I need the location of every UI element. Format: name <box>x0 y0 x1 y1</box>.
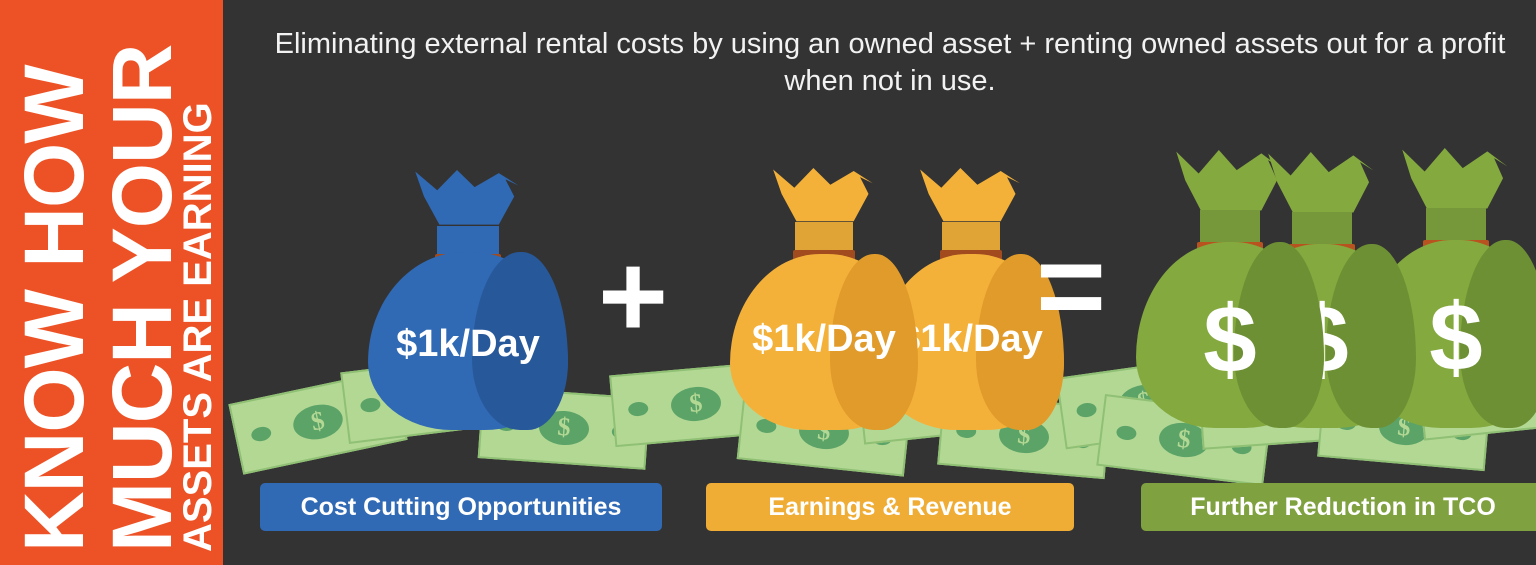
bag-dollar-symbol: $ <box>1136 292 1324 388</box>
label-text: Further Reduction in TCO <box>1190 493 1496 522</box>
label-further-reduction-tco[interactable]: Further Reduction in TCO <box>1141 483 1536 531</box>
label-text: Earnings & Revenue <box>768 493 1011 522</box>
label-earnings-revenue[interactable]: Earnings & Revenue <box>706 483 1074 531</box>
bag-amount-label: $1k/Day <box>730 318 918 361</box>
sidebar-headline-panel: KNOW HOW MUCH YOUR ASSETS ARE EARNING <box>0 0 223 565</box>
sidebar-headline-line-1: KNOW HOW <box>12 65 96 552</box>
label-text: Cost Cutting Opportunities <box>301 493 622 522</box>
label-cost-cutting-opportunities[interactable]: Cost Cutting Opportunities <box>260 483 662 531</box>
bag-amount-label: $1k/Day <box>368 323 568 366</box>
bag-neck <box>1200 210 1260 246</box>
plus-operator-icon: + <box>598 236 668 356</box>
page-caption: Eliminating external rental costs by usi… <box>255 26 1525 100</box>
bag-neck <box>1426 208 1486 244</box>
infographic-canvas: KNOW HOW MUCH YOUR ASSETS ARE EARNING El… <box>0 0 1536 565</box>
equals-operator-icon: = <box>1036 226 1106 346</box>
money-bag-icon-orange-front: $1k/Day <box>730 168 918 430</box>
sidebar-headline-line-2: MUCH YOUR <box>100 45 184 552</box>
money-bag-icon-green-1: $ <box>1136 150 1324 428</box>
money-bag-icon-blue: $1k/Day <box>368 170 568 430</box>
sidebar-headline-line-3: ASSETS ARE EARNING <box>178 102 218 552</box>
